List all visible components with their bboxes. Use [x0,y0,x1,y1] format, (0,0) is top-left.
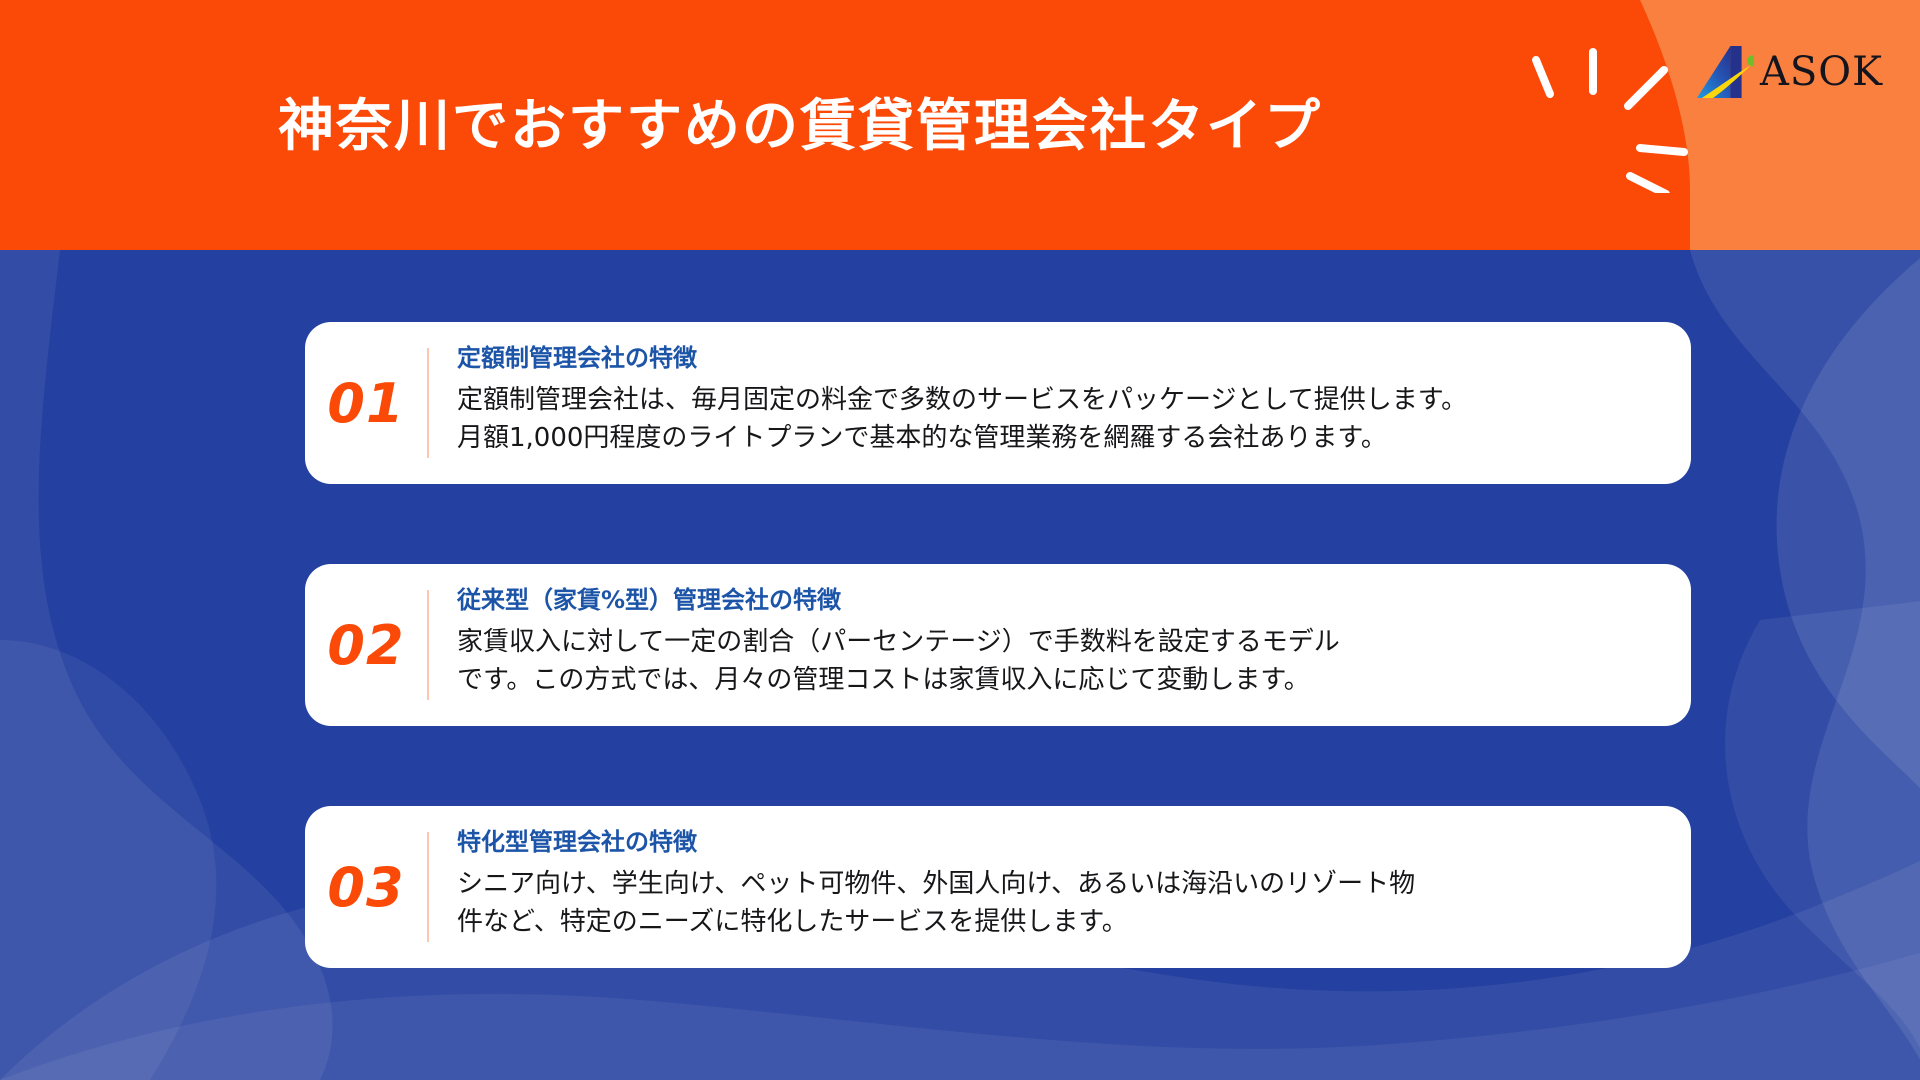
a-mark-bar [1730,46,1741,98]
asok-a-mark-icon [1692,41,1754,103]
slide-root: 神奈川でおすすめの賃貸管理会社タイプ ASOK [0,0,1920,1080]
a-mark-dot [1747,55,1754,66]
sparkle-line-3 [1628,70,1664,106]
card-number: 01 [305,322,427,484]
card-description: シニア向け、学生向け、ペット可物件、外国人向け、あるいは海沿いのリゾート物 件な… [457,865,1671,942]
asok-logo-text: ASOK [1760,52,1883,92]
card-heading: 定額制管理会社の特徴 [457,344,1671,373]
sparkle-line-4 [1640,148,1684,152]
card-body: 従来型（家賃%型）管理会社の特徴 家賃収入に対して一定の割合（パーセンテージ）で… [429,564,1691,726]
card-heading: 従来型（家賃%型）管理会社の特徴 [457,586,1671,615]
info-card-01[interactable]: 01 定額制管理会社の特徴 定額制管理会社は、毎月固定の料金で多数のサービスをパ… [305,322,1691,484]
page-title: 神奈川でおすすめの賃貸管理会社タイプ [0,96,1600,158]
card-number: 03 [305,806,427,968]
card-description: 定額制管理会社は、毎月固定の料金で多数のサービスをパッケージとして提供します。 … [457,381,1671,458]
page-header: 神奈川でおすすめの賃貸管理会社タイプ ASOK [0,0,1920,250]
sparkle-line-1 [1536,60,1550,94]
info-card-02[interactable]: 02 従来型（家賃%型）管理会社の特徴 家賃収入に対して一定の割合（パーセンテー… [305,564,1691,726]
card-number: 02 [305,564,427,726]
info-card-03[interactable]: 03 特化型管理会社の特徴 シニア向け、学生向け、ペット可物件、外国人向け、ある… [305,806,1691,968]
asok-logo[interactable]: ASOK [1692,34,1892,110]
sparkle-line-5 [1630,176,1666,193]
card-body: 定額制管理会社の特徴 定額制管理会社は、毎月固定の料金で多数のサービスをパッケー… [429,322,1691,484]
card-body: 特化型管理会社の特徴 シニア向け、学生向け、ペット可物件、外国人向け、あるいは海… [429,806,1691,968]
card-list: 01 定額制管理会社の特徴 定額制管理会社は、毎月固定の料金で多数のサービスをパ… [305,322,1691,968]
card-heading: 特化型管理会社の特徴 [457,828,1671,857]
card-description: 家賃収入に対して一定の割合（パーセンテージ）で手数料を設定するモデル です。この… [457,623,1671,700]
